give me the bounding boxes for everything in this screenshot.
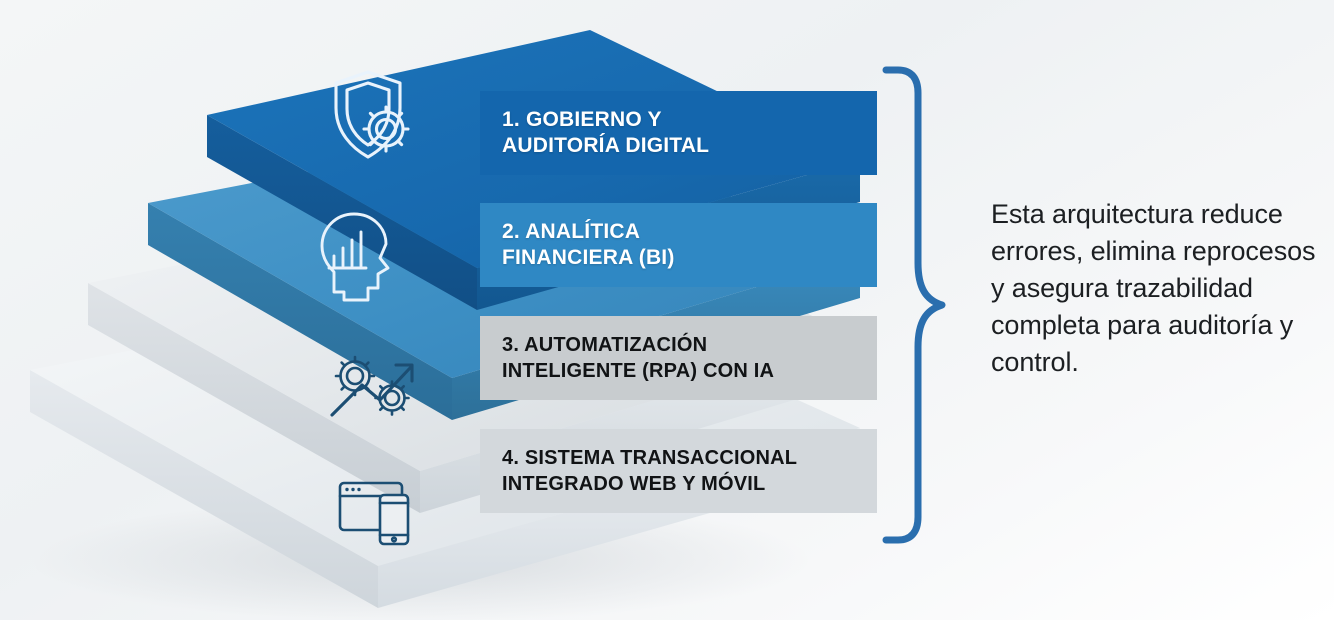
layer-4-title-line1: 4. SISTEMA TRANSACCIONAL <box>502 445 877 471</box>
layer-4-title-line2: INTEGRADO WEB Y MÓVIL <box>502 471 877 497</box>
summary-note: Esta arquitectura reduce errores, elimin… <box>991 196 1321 381</box>
layer-2-title-line2: FINANCIERA (BI) <box>502 245 877 271</box>
layer-label-bar-2[interactable]: 2. ANALÍTICA FINANCIERA (BI) <box>480 203 877 287</box>
layer-label-bar-3[interactable]: 3. AUTOMATIZACIÓN INTELIGENTE (RPA) CON … <box>480 316 877 400</box>
layer-2-title-line1: 2. ANALÍTICA <box>502 219 877 245</box>
layer-label-bar-1[interactable]: 1. GOBIERNO Y AUDITORÍA DIGITAL <box>480 91 877 175</box>
layer-1-title-line1: 1. GOBIERNO Y <box>502 107 877 133</box>
right-curly-brace <box>880 55 980 565</box>
layer-1-title-line2: AUDITORÍA DIGITAL <box>502 133 877 159</box>
layer-3-title-line2: INTELIGENTE (RPA) CON IA <box>502 358 877 384</box>
layer-label-bar-4[interactable]: 4. SISTEMA TRANSACCIONAL INTEGRADO WEB Y… <box>480 429 877 513</box>
layer-3-title-line1: 3. AUTOMATIZACIÓN <box>502 332 877 358</box>
infographic-canvas: 1. GOBIERNO Y AUDITORÍA DIGITAL 2. ANALÍ… <box>0 0 1334 620</box>
